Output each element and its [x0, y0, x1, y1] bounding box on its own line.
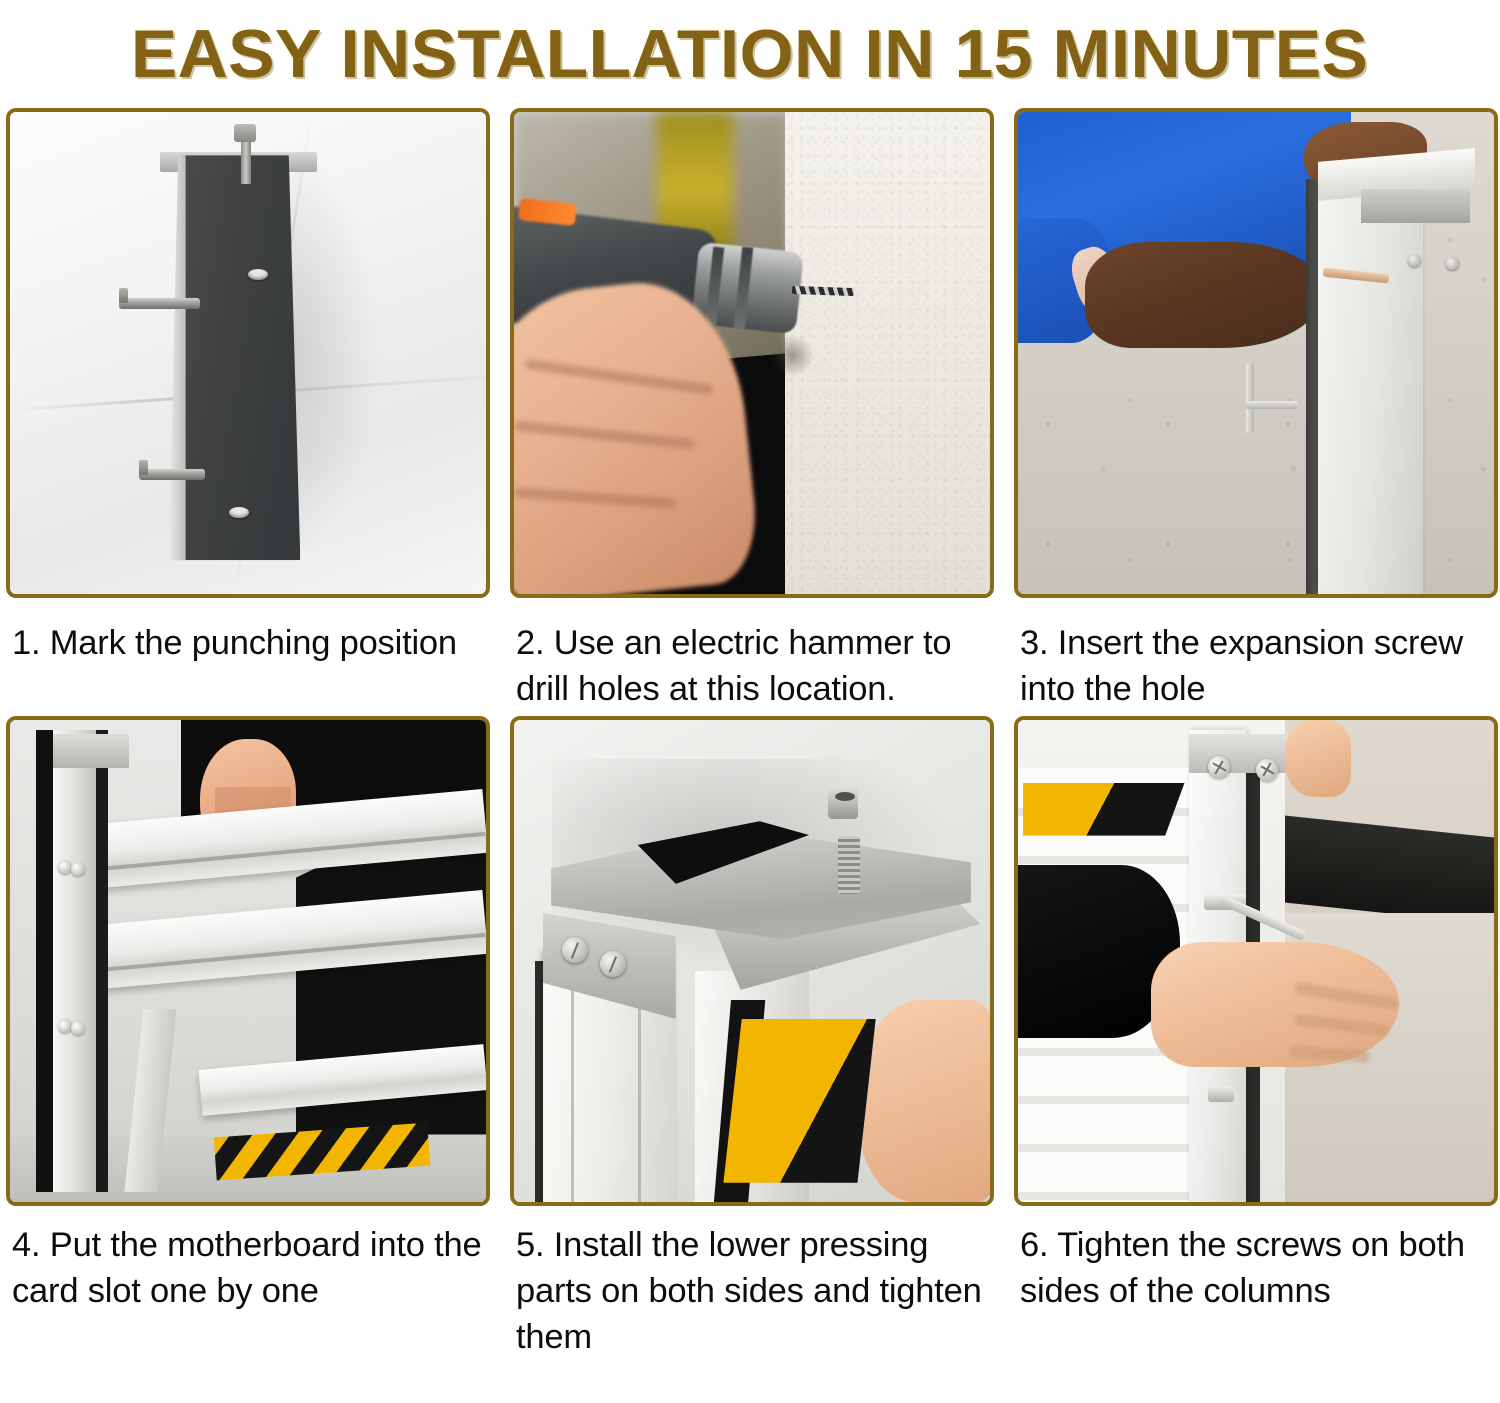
step-card-6: 6. Tighten the screws on both sides of t… — [1014, 716, 1500, 1361]
step-caption-3: 3. Insert the expansion screw into the h… — [1014, 598, 1500, 716]
step-card-3: 3. Insert the expansion screw into the h… — [1014, 108, 1500, 716]
step-image-1 — [6, 108, 490, 598]
step-image-5 — [510, 716, 994, 1206]
photo-lower-pressing-part — [514, 720, 990, 1202]
step-card-1: 1. Mark the punching position — [6, 108, 498, 716]
step-image-6 — [1014, 716, 1498, 1206]
photo-drill-wall — [514, 112, 990, 594]
step-caption-6: 6. Tighten the screws on both sides of t… — [1014, 1206, 1500, 1324]
page-header: EASY INSTALLATION IN 15 MINUTES — [0, 0, 1500, 108]
step-image-4 — [6, 716, 490, 1206]
step-caption-5: 5. Install the lower pressing parts on b… — [510, 1206, 1002, 1361]
photo-expansion-screw — [1018, 112, 1494, 594]
photo-motherboard-slot — [10, 720, 486, 1202]
step-caption-4: 4. Put the motherboard into the card slo… — [6, 1206, 498, 1324]
step-caption-1: 1. Mark the punching position — [6, 598, 498, 716]
step-card-5: 5. Install the lower pressing parts on b… — [510, 716, 1002, 1361]
step-image-2 — [510, 108, 994, 598]
photo-column-base — [10, 112, 486, 594]
step-card-2: 2. Use an electric hammer to drill holes… — [510, 108, 1002, 716]
step-image-3 — [1014, 108, 1498, 598]
photo-tighten-column-screws — [1018, 720, 1494, 1202]
step-caption-2: 2. Use an electric hammer to drill holes… — [510, 598, 1002, 716]
installation-steps-grid: 1. Mark the punching position — [0, 108, 1500, 1361]
page-title: EASY INSTALLATION IN 15 MINUTES — [131, 20, 1368, 88]
step-card-4: 4. Put the motherboard into the card slo… — [6, 716, 498, 1361]
